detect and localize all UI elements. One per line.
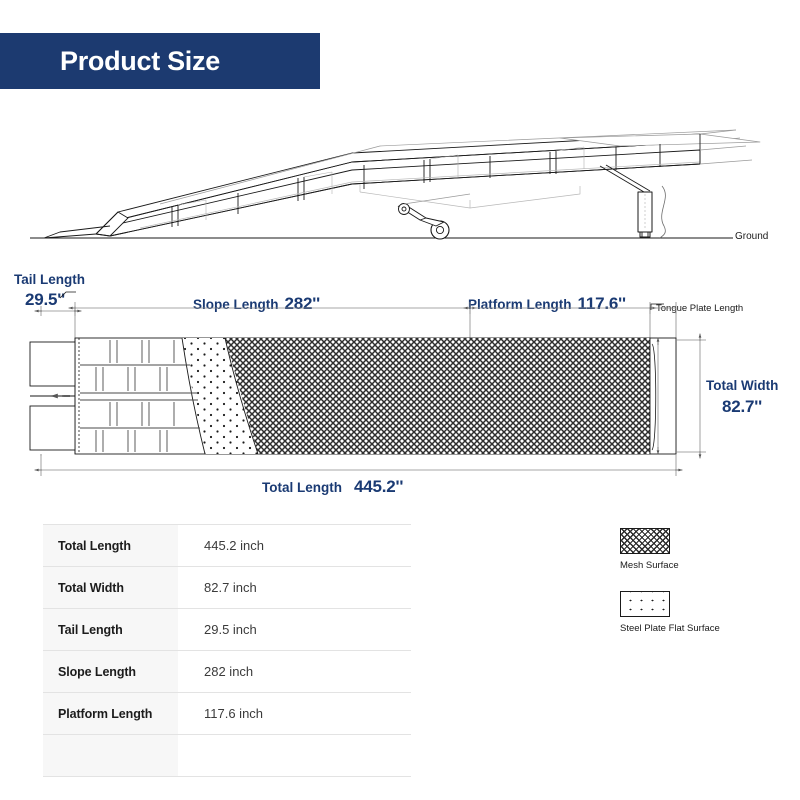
- table-row-partial: [43, 735, 411, 777]
- spec-key-empty: [43, 735, 178, 777]
- table-row: Slope Length 282 inch: [43, 651, 411, 693]
- spec-key: Platform Length: [43, 693, 178, 735]
- spec-value: 29.5 inch: [178, 609, 411, 651]
- spec-value-empty: [178, 735, 411, 777]
- spec-table-body: Total Length 445.2 inch Total Width 82.7…: [43, 525, 411, 777]
- product-size-page: Product Size: [0, 0, 800, 800]
- table-row: Tail Length 29.5 inch: [43, 609, 411, 651]
- table-row: Platform Length 117.6 inch: [43, 693, 411, 735]
- table-row: Total Width 82.7 inch: [43, 567, 411, 609]
- ground-label: Ground: [735, 231, 768, 242]
- table-row: Total Length 445.2 inch: [43, 525, 411, 567]
- header-banner: Product Size: [0, 33, 320, 89]
- legend-item-steel-plate: Steel Plate Flat Surface: [620, 591, 790, 634]
- surface-legend: Mesh Surface Steel Plate Flat Surface: [620, 528, 790, 654]
- ramp-side-view-drawing: [0, 108, 800, 258]
- spec-key: Total Width: [43, 567, 178, 609]
- legend-label-steel-plate: Steel Plate Flat Surface: [620, 623, 790, 634]
- spec-key: Tail Length: [43, 609, 178, 651]
- spec-value: 445.2 inch: [178, 525, 411, 567]
- spec-value: 282 inch: [178, 651, 411, 693]
- mesh-pattern-swatch-icon: [620, 528, 670, 554]
- legend-label-mesh: Mesh Surface: [620, 560, 790, 571]
- spec-key: Slope Length: [43, 651, 178, 693]
- ramp-plan-view-drawing: [0, 258, 800, 503]
- steel-plate-pattern-swatch-icon: [620, 591, 670, 617]
- spec-value: 82.7 inch: [178, 567, 411, 609]
- page-title: Product Size: [0, 46, 220, 77]
- specification-table: Total Length 445.2 inch Total Width 82.7…: [43, 524, 411, 777]
- spec-key: Total Length: [43, 525, 178, 567]
- spec-value: 117.6 inch: [178, 693, 411, 735]
- legend-item-mesh: Mesh Surface: [620, 528, 790, 571]
